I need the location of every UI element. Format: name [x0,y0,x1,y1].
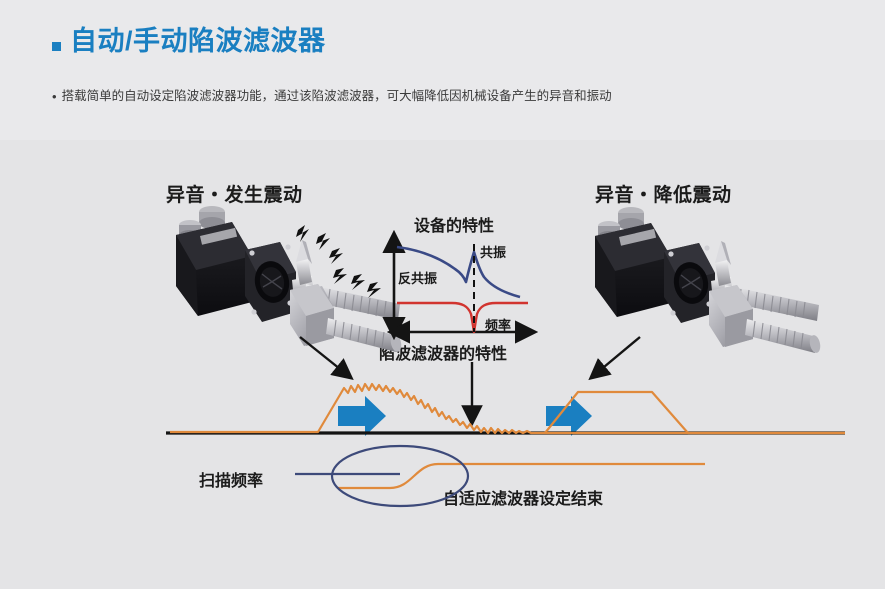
page-header: 自动/手动陷波滤波器 • 搭载简单的自动设定陷波滤波器功能，通过该陷波滤波器，可… [0,0,885,140]
right-caption: 异音・降低震动 [595,180,732,207]
dot-bullet-icon: • [52,88,57,105]
black-pointer-arrow-icon-left [300,337,350,377]
center-chart-subtitle: 陷波滤波器的特性 [379,340,507,364]
left-caption: 异音・发生震动 [166,180,303,207]
servo-motor-icon-left [176,206,314,322]
waveform-before-filter [170,384,845,433]
label-adaptive-done: 自适应滤波器设定结束 [443,485,603,509]
center-chart-title: 设备的特性 [414,212,494,236]
ball-screw-icon-left [304,284,400,320]
vibration-spark-icon-group-left [296,225,381,298]
square-bullet-icon [52,42,61,51]
diagram-stage: 异音・发生震动 异音・降低震动 设备的特性 陷波滤波器的特性 共振 反共振 频率… [0,140,885,589]
waveform-after-filter [545,392,845,433]
black-pointer-arrow-icon-right [592,337,640,377]
label-resonance: 共振 [480,242,506,261]
ball-screw-extension-right [745,319,822,354]
ball-screw-icon-right [723,285,819,321]
page-title-row: 自动/手动陷波滤波器 [52,28,326,55]
label-sweep-frequency: 扫描频率 [199,467,263,491]
blue-right-arrow-icon-right [546,396,592,436]
blue-right-arrow-icon-left [338,396,386,436]
page-subtitle: 搭载简单的自动设定陷波滤波器功能，通过该陷波滤波器，可大幅降低因机械设备产生的异… [62,88,612,105]
servo-motor-icon-right [595,207,733,323]
page-subtitle-row: • 搭载简单的自动设定陷波滤波器功能，通过该陷波滤波器，可大幅降低因机械设备产生… [52,88,612,105]
slide-page: 自动/手动陷波滤波器 • 搭载简单的自动设定陷波滤波器功能，通过该陷波滤波器，可… [0,0,885,589]
diagram-graphics [0,140,885,589]
label-anti-resonance: 反共振 [398,268,437,287]
ball-screw-nut-right [709,241,753,347]
page-title: 自动/手动陷波滤波器 [70,28,326,55]
ball-screw-nut-left [272,240,334,346]
label-frequency: 频率 [485,315,511,334]
